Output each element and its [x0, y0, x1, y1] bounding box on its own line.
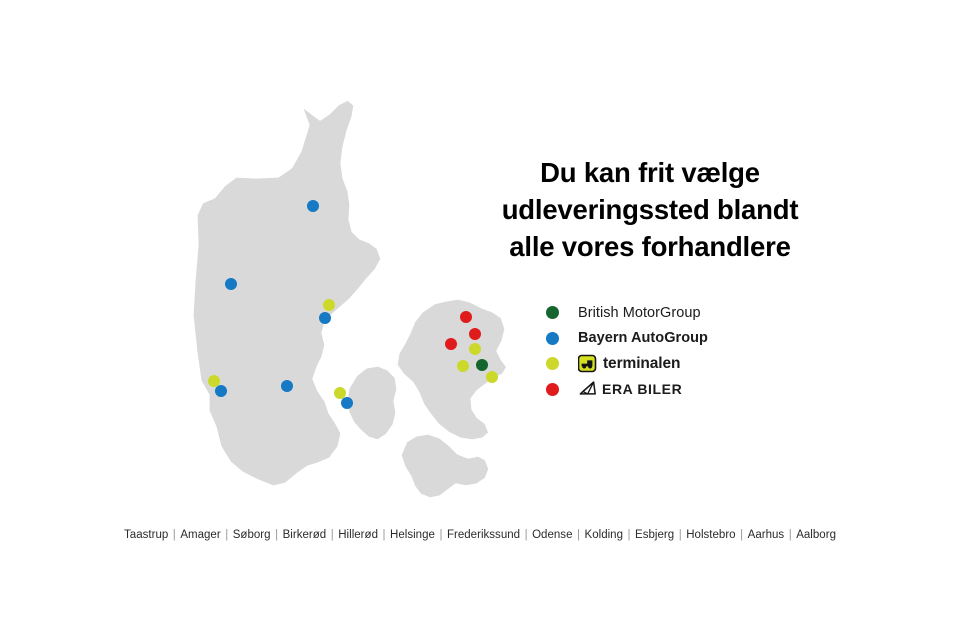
city-separator: | — [737, 529, 747, 541]
legend-dot-icon-british-motorgroup — [546, 306, 559, 319]
map-dot — [281, 380, 293, 392]
legend-item-british-motorgroup: British MotorGroup — [546, 300, 846, 326]
map-dot — [319, 312, 331, 324]
map-region-zealand — [396, 298, 508, 441]
legend-dot-icon-era-biler — [546, 383, 559, 396]
city-name: Aarhus — [747, 529, 786, 541]
city-separator: | — [169, 529, 179, 541]
city-name: Taastrup — [123, 529, 169, 541]
city-name: Kolding — [584, 529, 625, 541]
map-dot — [323, 299, 335, 311]
city-name: Helsinge — [389, 529, 436, 541]
map-dot — [445, 338, 457, 350]
map-dot — [341, 397, 353, 409]
map-dot — [460, 311, 472, 323]
city-separator: | — [521, 529, 531, 541]
legend-label-british-motorgroup: British MotorGroup — [578, 305, 701, 321]
city-name: Birkerød — [282, 529, 328, 541]
map-dot — [215, 385, 227, 397]
map-dot — [334, 387, 346, 399]
map-dot — [225, 278, 237, 290]
city-separator: | — [675, 529, 685, 541]
legend-dot-icon-bayern-autogroup — [546, 332, 559, 345]
city-name: Søborg — [232, 529, 272, 541]
map-dot — [469, 328, 481, 340]
legend-item-bayern-autogroup: Bayern AutoGroup — [546, 326, 846, 352]
city-separator: | — [272, 529, 282, 541]
city-name: Odense — [531, 529, 573, 541]
city-name: Frederikssund — [446, 529, 521, 541]
legend-item-era-biler: ERA BILER — [546, 377, 846, 403]
dealer-city-list: Taastrup|Amager|Søborg|Birkerød|Hillerød… — [0, 529, 960, 541]
map-region-funen — [346, 365, 398, 441]
brand-legend: British MotorGroup Bayern AutoGroup term… — [546, 300, 846, 402]
city-separator: | — [436, 529, 446, 541]
city-separator: | — [785, 529, 795, 541]
era-biler-logo-text: ERA BILER — [602, 381, 682, 397]
terminalen-logo-icon — [578, 354, 598, 374]
map-region-lolland-falster — [400, 433, 490, 499]
legend-item-terminalen: terminalen — [546, 351, 846, 377]
headline-line-1: Du kan frit vælge — [440, 155, 860, 192]
city-separator: | — [327, 529, 337, 541]
map-region-jutland — [192, 99, 382, 487]
era-biler-logo-icon — [578, 380, 598, 398]
city-separator: | — [222, 529, 232, 541]
headline-line-2: udleveringssted blandt — [440, 192, 860, 229]
city-separator: | — [574, 529, 584, 541]
terminalen-logo-text: terminalen — [603, 355, 680, 373]
map-dot — [469, 343, 481, 355]
page-title: Du kan frit vælge udleveringssted blandt… — [440, 155, 860, 266]
map-dot — [208, 375, 220, 387]
terminalen-logo: terminalen — [578, 354, 680, 374]
city-name: Aalborg — [795, 529, 837, 541]
city-name: Holstebro — [685, 529, 736, 541]
map-dot — [476, 359, 488, 371]
city-name: Hillerød — [337, 529, 379, 541]
city-name: Esbjerg — [634, 529, 675, 541]
legend-label-bayern-autogroup: Bayern AutoGroup — [578, 330, 708, 346]
map-dot — [486, 371, 498, 383]
poster-canvas: Du kan frit vælge udleveringssted blandt… — [0, 0, 960, 640]
legend-dot-icon-terminalen — [546, 357, 559, 370]
city-separator: | — [624, 529, 634, 541]
city-name: Amager — [179, 529, 221, 541]
era-biler-logo: ERA BILER — [578, 380, 682, 398]
map-dot — [307, 200, 319, 212]
city-separator: | — [379, 529, 389, 541]
headline-line-3: alle vores forhandlere — [440, 229, 860, 266]
map-dot — [457, 360, 469, 372]
